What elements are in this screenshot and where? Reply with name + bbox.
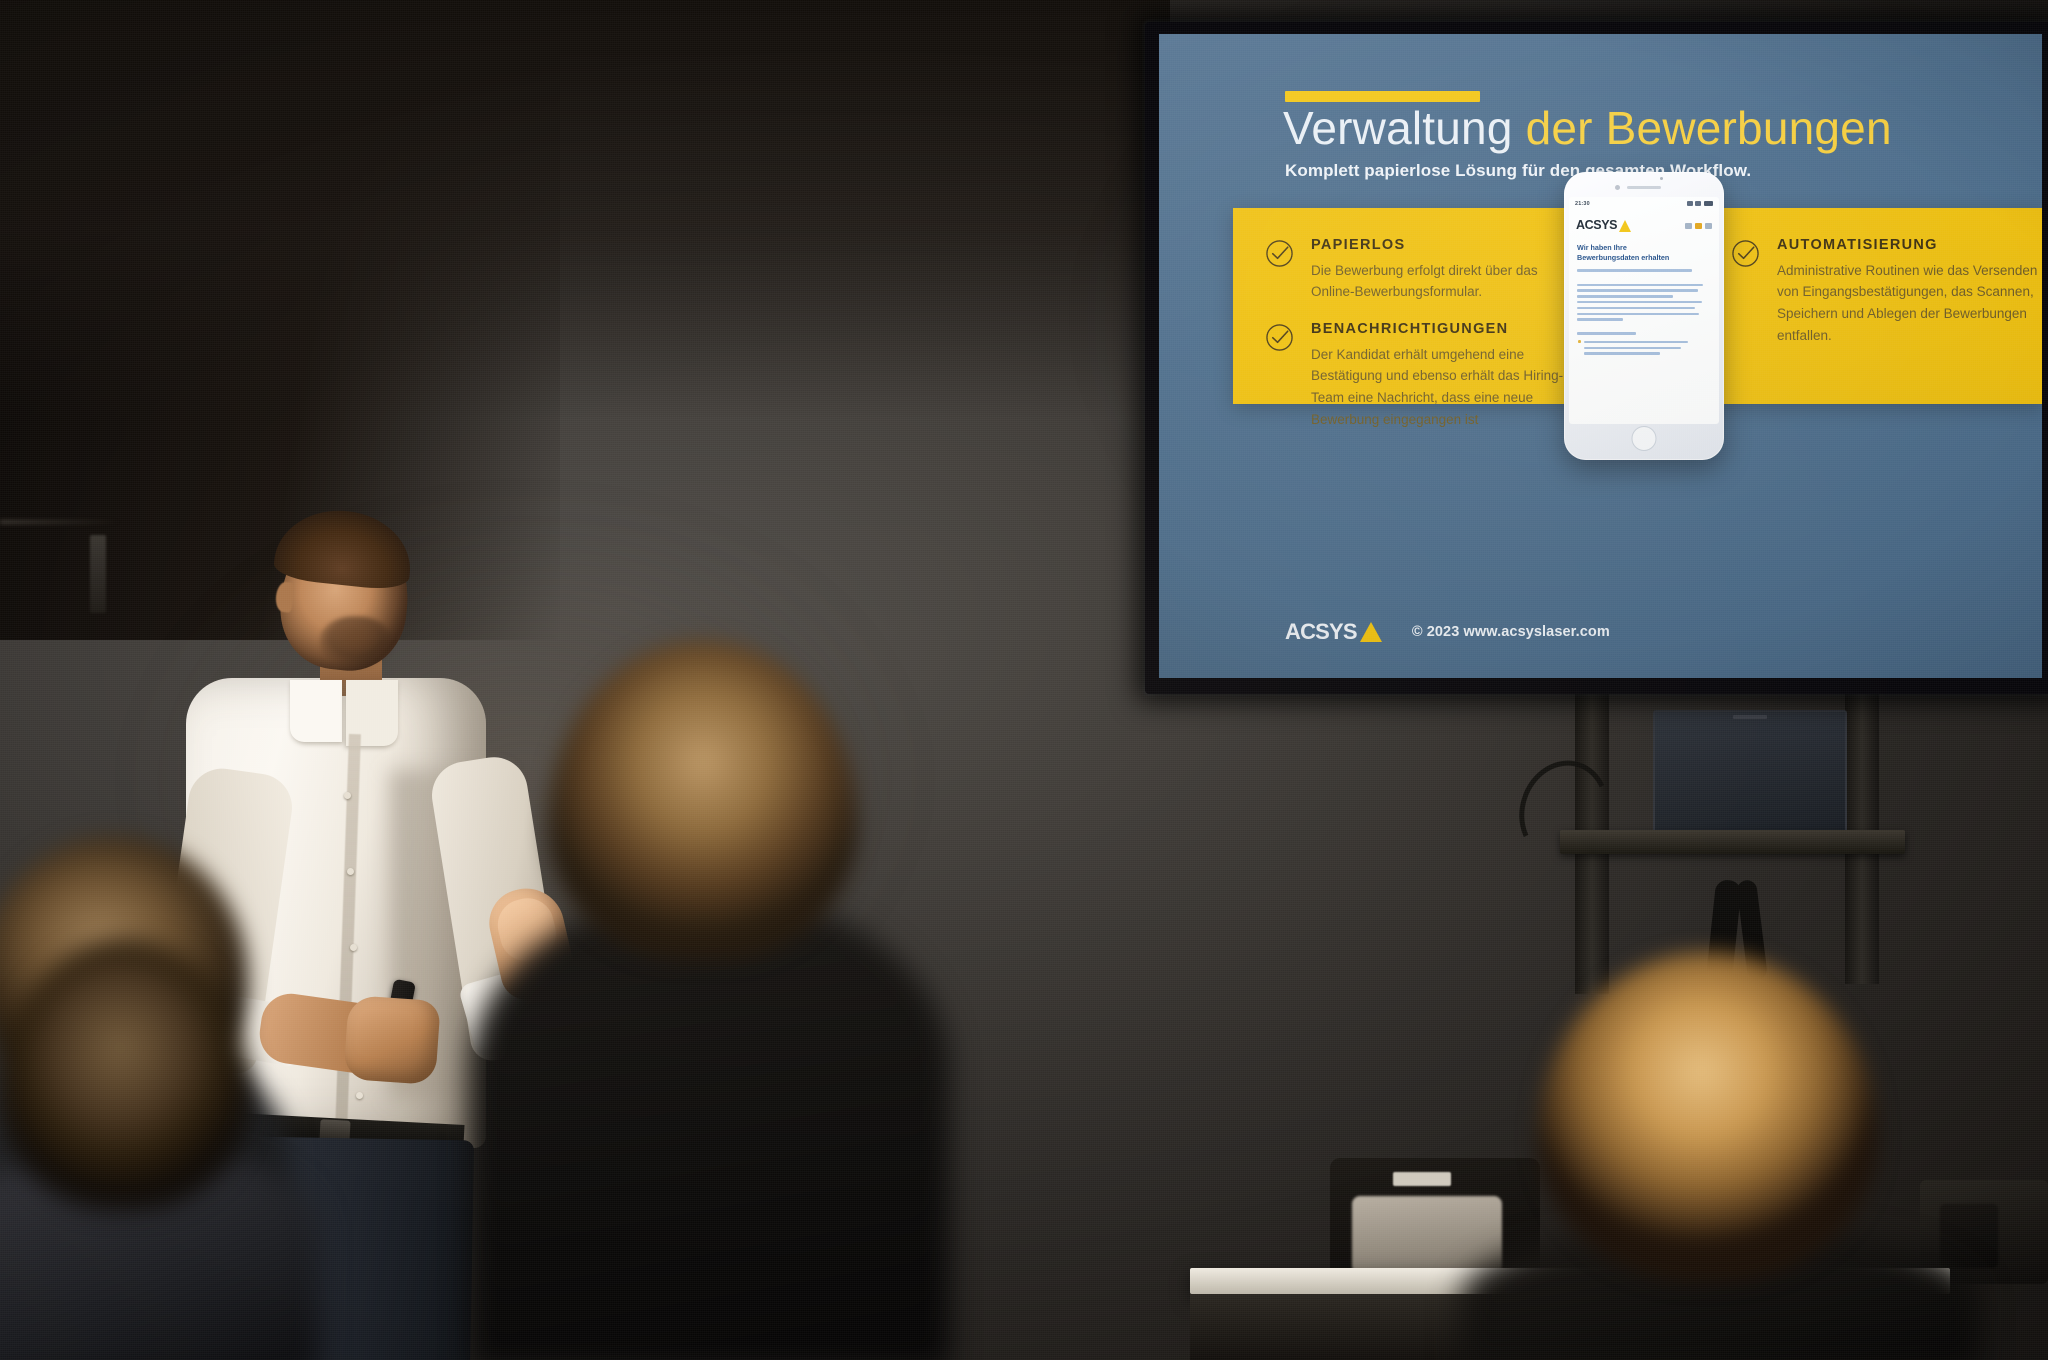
phone-text-line [1577,301,1702,303]
phone-text-line [1577,318,1623,320]
phone-text-line [1577,295,1673,297]
phone-text-line [1577,284,1703,286]
shirt-button [356,1092,363,1099]
phone-text-line [1577,289,1698,291]
tv-screen: Verwaltung der Bewerbungen Komplett papi… [1159,34,2042,678]
phone-text-line [1577,269,1692,271]
phone-text-line [1577,307,1695,309]
feature-benachrichtigungen: BENACHRICHTIGUNGEN Der Kandidat erhält u… [1265,322,1595,431]
presentation-slide: Verwaltung der Bewerbungen Komplett papi… [1159,34,2042,678]
shirt-button [344,792,351,799]
presenter-beard [320,616,392,668]
wall-mounted-tv: Verwaltung der Bewerbungen Komplett papi… [1145,22,2048,694]
phone-speaker-icon [1627,186,1661,189]
phone-status-time: 21:30 [1575,201,1590,207]
phone-mockup: 21:30 ACSYS [1564,172,1724,460]
audience-member-shoulders [470,900,950,1360]
phone-email-heading: Wir haben Ihre Bewerbungsdaten erhalten [1577,243,1711,262]
check-circle-icon [1731,239,1760,268]
signal-icon [1687,201,1693,206]
phone-screen: 21:30 ACSYS [1569,197,1719,424]
grid-icon[interactable] [1695,223,1702,229]
feature-text: BENACHRICHTIGUNGEN Der Kandidat erhält u… [1311,322,1595,431]
wifi-icon [1695,201,1701,206]
feature-heading: PAPIERLOS [1311,238,1575,253]
shelf-monitor [1653,710,1847,842]
shirt-button [347,868,354,875]
phone-email-body: Wir haben Ihre Bewerbungsdaten erhalten [1569,243,1719,424]
phone-text-gap [1577,275,1711,280]
slide-title: Verwaltung der Bewerbungen [1283,104,1892,152]
acsys-logo-wordmark: ACSYS [1285,622,1357,642]
phone-email-heading-line2: Bewerbungsdaten erhalten [1577,253,1711,263]
phone-camera-icon [1615,185,1620,190]
menu-icon[interactable] [1705,223,1712,229]
feature-body: Der Kandidat erhält umgehend eine Bestät… [1311,344,1595,431]
wall-seam [0,520,120,524]
phone-brand-row: ACSYS [1569,211,1719,241]
list-icon[interactable] [1685,223,1692,229]
slide-footer: ACSYS © 2023 www.acsyslaser.com [1285,622,1610,642]
presentation-photo-scene: Verwaltung der Bewerbungen Komplett papi… [0,0,2048,1360]
battery-icon [1704,201,1713,206]
acsys-logo-wordmark: ACSYS [1576,220,1617,232]
presenter-ear [274,581,294,613]
phone-bullet-list [1577,341,1711,355]
slide-title-part1: Verwaltung [1283,102,1513,154]
presenter-clicker-hand [343,995,441,1085]
home-button-icon[interactable] [1632,426,1657,451]
phone-text-line [1577,332,1636,334]
phone-sensor-icon [1660,177,1663,180]
check-circle-icon [1265,239,1294,268]
footer-copyright: © 2023 www.acsyslaser.com [1412,624,1610,640]
feature-heading: BENACHRICHTIGUNGEN [1311,322,1595,337]
feature-text: AUTOMATISIERUNG Administrative Routinen … [1777,238,2042,347]
phone-bullet-line [1584,352,1660,354]
phone-menu-icons [1685,223,1712,229]
presenter-collar-left [290,680,342,742]
phone-bullet-line [1584,341,1688,343]
acsys-logo-phone: ACSYS [1576,220,1631,233]
wall-shadow-top [0,0,1170,420]
phone-text-gap [1577,324,1711,329]
acsys-logo-footer: ACSYS [1285,622,1382,642]
shirt-button [350,944,357,951]
desk-pouch [1352,1196,1502,1274]
feature-text: PAPIERLOS Die Bewerbung erfolgt direkt ü… [1311,238,1575,303]
phone-email-heading-line1: Wir haben Ihre [1577,243,1711,253]
feature-automatisierung: AUTOMATISIERUNG Administrative Routinen … [1731,238,2042,347]
phone-bullet-line [1584,347,1681,349]
feature-body: Die Bewerbung erfolgt direkt über das On… [1311,260,1575,304]
check-circle-icon [1265,323,1294,352]
triangle-icon [1619,220,1631,232]
feature-heading: AUTOMATISIERUNG [1777,238,2042,253]
triangle-icon [1360,622,1382,642]
slide-title-part2: der Bewerbungen [1526,102,1892,154]
phone-text-line [1577,313,1699,315]
wall-bracket [90,535,106,613]
desk-label-tag [1393,1172,1451,1186]
feature-body: Administrative Routinen wie das Versende… [1777,260,2042,347]
title-accent-rule [1285,91,1480,102]
phone-status-bar: 21:30 [1569,197,1719,210]
desk-object-right-inner [1940,1204,1998,1268]
tv-stand-shelf [1560,830,1905,854]
phone-status-icons [1687,201,1713,206]
feature-papierlos: PAPIERLOS Die Bewerbung erfolgt direkt ü… [1265,238,1575,303]
